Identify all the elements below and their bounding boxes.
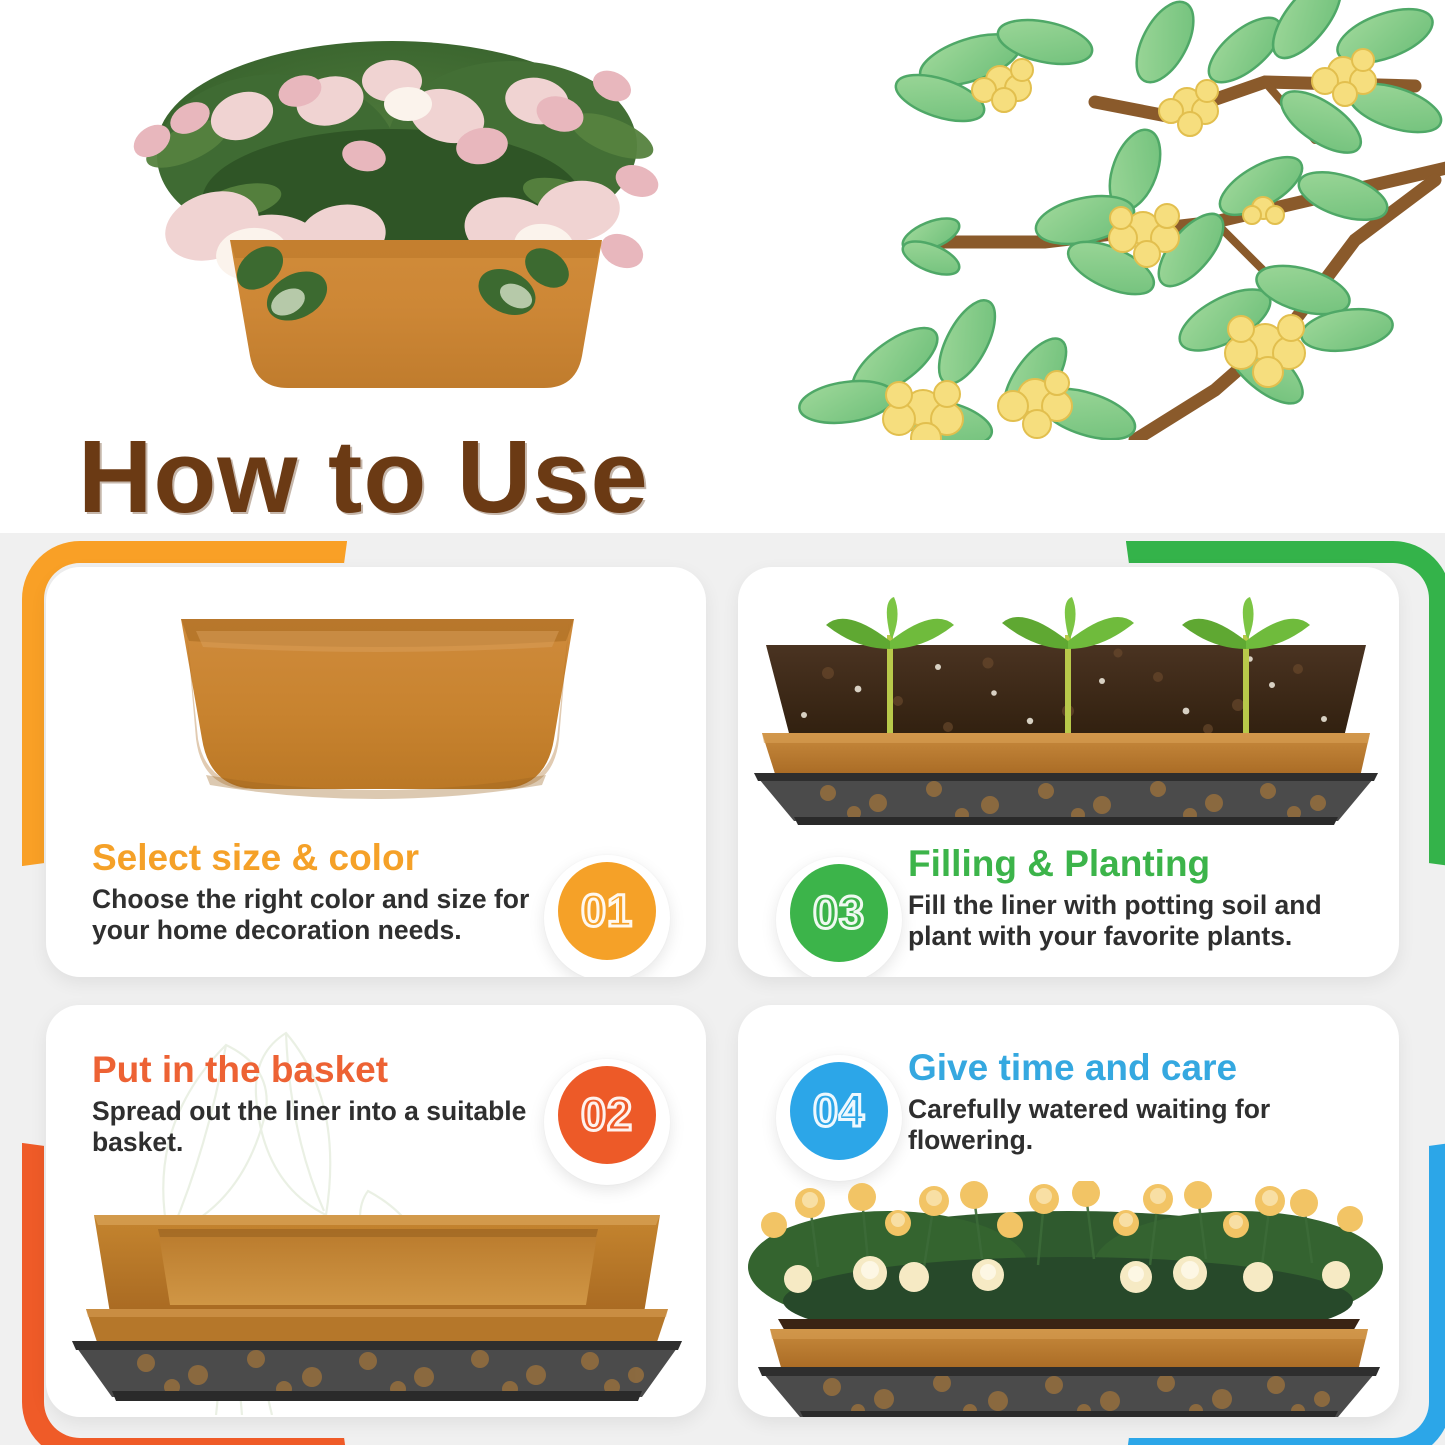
step-card-02[interactable]: Put in the basket Spread out the liner i… [46,1005,706,1417]
step-04-text: Give time and care Carefully watered wai… [908,1049,1377,1155]
step-01-badge: 01 [544,855,670,977]
step-card-03[interactable]: Filling & Planting Fill the liner with p… [738,567,1399,977]
step-01-body: Choose the right color and size for your… [92,884,536,945]
step-card-01[interactable]: Select size & color Choose the right col… [46,567,706,977]
step-01-image [46,589,706,819]
step-03-text: Filling & Planting Fill the liner with p… [908,845,1377,951]
step-03-image [738,581,1399,831]
infographic-page: How to Use [0,0,1445,1445]
step-01-heading: Select size & color [92,839,536,878]
step-04-heading: Give time and care [908,1049,1377,1088]
step-03-badge-number: 03 [790,864,888,962]
step-03-heading: Filling & Planting [908,845,1377,884]
step-02-badge-number: 02 [558,1066,656,1164]
step-01-text: Select size & color Choose the right col… [92,839,536,945]
step-03-badge: 03 [776,857,902,977]
step-card-04[interactable]: Give time and care Carefully watered wai… [738,1005,1399,1417]
step-04-image [738,1181,1399,1417]
osmanthus-branch-illustration [795,0,1445,440]
step-02-heading: Put in the basket [92,1051,536,1090]
step-01-badge-number: 01 [558,862,656,960]
step-02-body: Spread out the liner into a suitable bas… [92,1096,536,1157]
step-03-body: Fill the liner with potting soil and pla… [908,890,1377,951]
step-02-image [46,1195,706,1417]
step-04-badge: 04 [776,1055,902,1181]
page-title: How to Use [78,425,649,528]
steps-grid: Select size & color Choose the right col… [0,533,1445,1445]
step-02-text: Put in the basket Spread out the liner i… [92,1051,536,1157]
hero-section: How to Use [0,0,1445,533]
step-04-badge-number: 04 [790,1062,888,1160]
step-02-badge: 02 [544,1059,670,1185]
hero-planter-photo [92,0,712,396]
step-04-body: Carefully watered waiting for flowering. [908,1094,1377,1155]
